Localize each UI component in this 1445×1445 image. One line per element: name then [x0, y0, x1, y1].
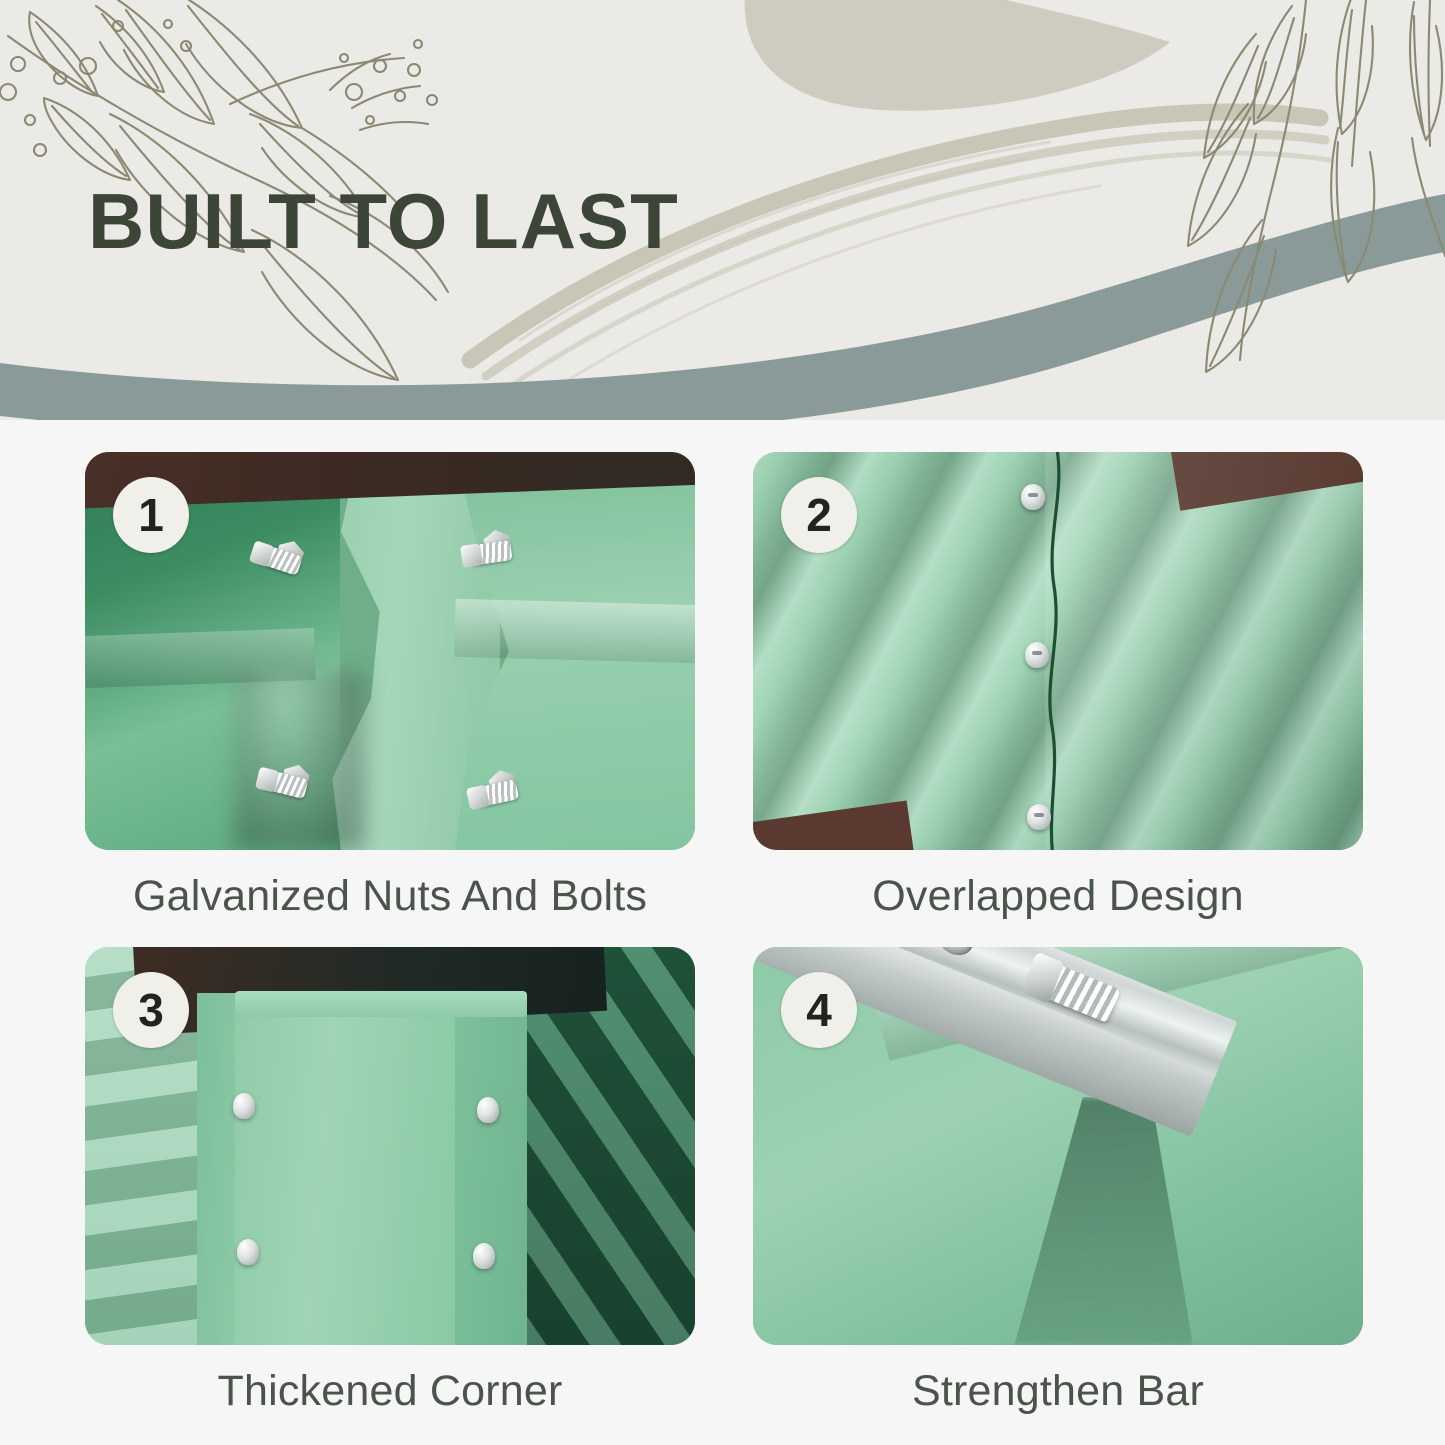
header-banner: BUILT TO LAST: [0, 0, 1445, 420]
feature-grid: 1 Galvanized Nuts And Bolts 2 Overlapped…: [0, 420, 1445, 1445]
feature-caption-2: Overlapped Design: [753, 872, 1363, 921]
step-badge-1: 1: [113, 477, 189, 553]
screw-icon: [1021, 484, 1045, 510]
feature-photo-2: 2: [753, 452, 1363, 850]
bolt-icon: [466, 526, 527, 573]
screw-icon: [233, 1093, 255, 1119]
overlap-sheet: [1045, 452, 1363, 850]
feature-card-2[interactable]: 2 Overlapped Design: [753, 452, 1363, 921]
step-badge-3: 3: [113, 972, 189, 1048]
corner-post-side: [455, 1007, 527, 1345]
feature-caption-4: Strengthen Bar: [753, 1367, 1363, 1416]
step-badge-2: 2: [781, 477, 857, 553]
feature-photo-1: 1: [85, 452, 695, 850]
leaf-line-art-right: [1188, 0, 1445, 372]
feature-card-3[interactable]: 3 Thickened Corner: [85, 947, 695, 1416]
corner-post-face: [235, 999, 455, 1345]
step-badge-4: 4: [781, 972, 857, 1048]
screw-icon: [473, 1243, 495, 1269]
taupe-blob: [745, 0, 1170, 111]
screw-icon: [237, 1239, 259, 1265]
corner-post-cap: [235, 991, 527, 1017]
feature-photo-4: 4: [753, 947, 1363, 1345]
page-title: BUILT TO LAST: [88, 182, 679, 260]
panel-shadow: [235, 672, 365, 850]
feature-photo-3: 3: [85, 947, 695, 1345]
feature-card-1[interactable]: 1 Galvanized Nuts And Bolts: [85, 452, 695, 921]
feature-caption-1: Galvanized Nuts And Bolts: [85, 872, 695, 921]
screw-icon: [1025, 642, 1049, 668]
feature-caption-3: Thickened Corner: [85, 1367, 695, 1416]
panel-ridge-right: [454, 599, 695, 663]
feature-card-4[interactable]: 4 Strengthen Bar: [753, 947, 1363, 1416]
screw-icon: [477, 1097, 499, 1123]
screw-icon: [1027, 804, 1051, 830]
